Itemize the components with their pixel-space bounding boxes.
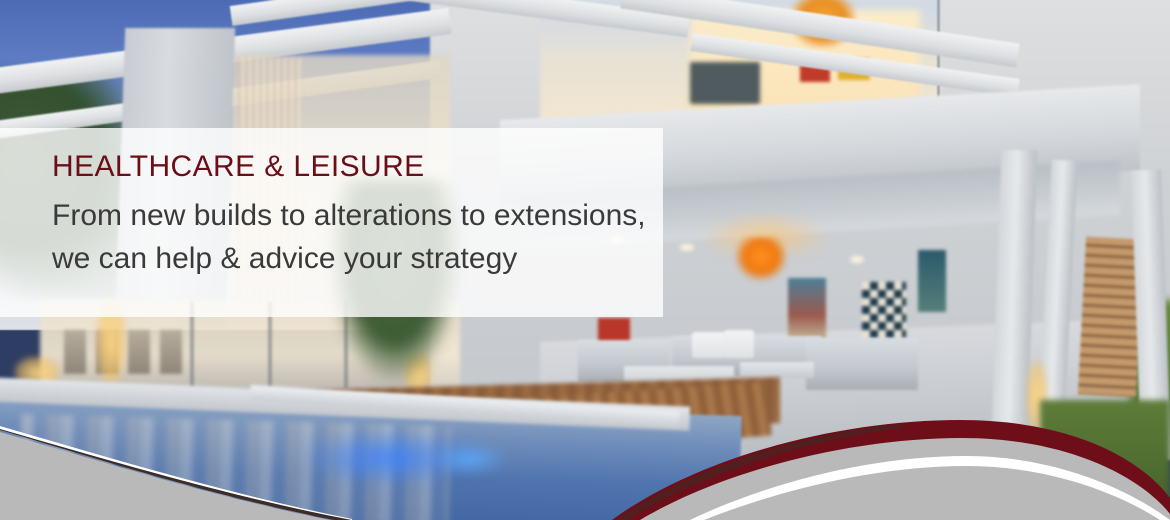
dining-chair	[160, 330, 182, 374]
hero-subtitle: From new builds to alterations to extens…	[52, 195, 663, 280]
ceiling-downlight	[850, 256, 864, 263]
wall-artwork-checker	[862, 282, 906, 338]
wall-artwork-teal	[918, 250, 946, 312]
hero-banner: HEALTHCARE & LEISURE From new builds to …	[0, 0, 1170, 520]
page-title: HEALTHCARE & LEISURE	[52, 150, 663, 183]
ceiling-downlight	[680, 244, 694, 251]
pool-underwater-light	[430, 442, 510, 476]
dining-chair	[128, 330, 150, 374]
hero-subtitle-line-2: we can help & advice your strategy	[52, 238, 663, 281]
side-table	[740, 362, 814, 378]
dining-chair	[64, 330, 86, 374]
sofa-cushion	[692, 332, 726, 358]
hero-subtitle-line-1: From new builds to alterations to extens…	[52, 195, 663, 238]
sofa-cushion	[724, 330, 754, 358]
orange-pendant-lamp	[735, 237, 787, 281]
lounge-sofa-right	[806, 338, 918, 390]
wall-artwork-abstract	[788, 278, 826, 340]
hero-caption-panel: HEALTHCARE & LEISURE From new builds to …	[0, 128, 663, 317]
lawn-front	[1040, 400, 1170, 520]
